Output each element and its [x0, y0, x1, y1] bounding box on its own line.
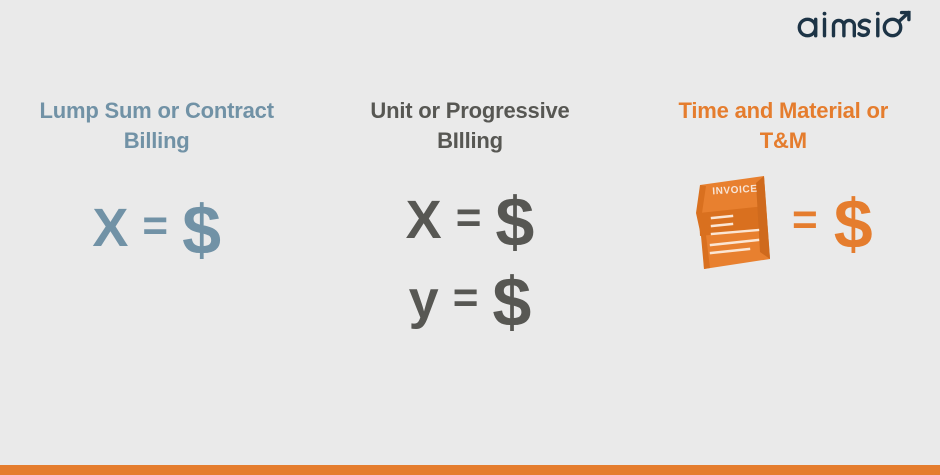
formula-term: X: [406, 193, 442, 247]
formula-row: INVOICE = $: [694, 173, 873, 271]
formula-row: X = $: [406, 185, 535, 255]
bottom-accent-bar: [0, 465, 940, 475]
formula-row: X = $: [92, 193, 221, 263]
invoice-icon: INVOICE: [694, 173, 776, 271]
formula-result: $: [495, 187, 534, 257]
formula-term: y: [409, 273, 439, 327]
formula-group: X = $ y = $: [406, 185, 535, 335]
formula-result: $: [834, 189, 873, 259]
formula-term: X: [92, 201, 128, 255]
slide-canvas: Lump Sum or Contract Billing X = $ Unit …: [0, 0, 940, 475]
formula-result: $: [492, 267, 531, 337]
billing-column-unit-progressive: Unit or Progressive BIlling X = $ y = $: [313, 96, 626, 335]
invoice-document-shape: [694, 173, 776, 271]
formula-operator: =: [142, 204, 168, 248]
brand-logo: [796, 8, 922, 42]
billing-column-heading: Time and Material or T&M: [656, 96, 911, 155]
formula-group: INVOICE = $: [694, 173, 873, 271]
aimsio-wordmark-icon: [796, 10, 922, 40]
billing-column-time-material: Time and Material or T&M: [627, 96, 940, 271]
billing-column-lump-sum: Lump Sum or Contract Billing X = $: [0, 96, 313, 263]
formula-operator: =: [792, 198, 818, 242]
formula-group: X = $: [92, 193, 221, 263]
billing-column-heading: Unit or Progressive BIlling: [342, 96, 597, 155]
billing-column-heading: Lump Sum or Contract Billing: [29, 96, 284, 155]
billing-types-row: Lump Sum or Contract Billing X = $ Unit …: [0, 96, 940, 335]
formula-operator: =: [453, 276, 479, 320]
formula-operator: =: [456, 196, 482, 240]
formula-result: $: [182, 195, 221, 265]
formula-row: y = $: [409, 265, 532, 335]
